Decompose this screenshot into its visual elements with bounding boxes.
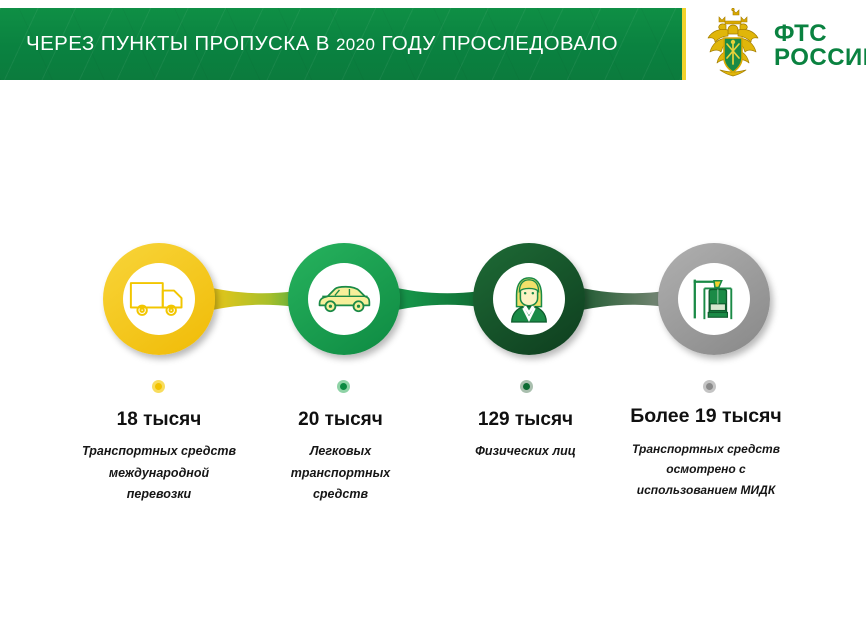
truck-icon: [128, 268, 190, 330]
node-midk-inspection[interactable]: [658, 243, 770, 355]
bullet-dot-1: [152, 380, 165, 393]
page-title-year: 2020: [336, 35, 375, 54]
node-individuals[interactable]: [473, 243, 585, 355]
stat-value-1: 18 тысяч: [75, 408, 243, 431]
header-banner: ЧЕРЕЗ ПУНКТЫ ПРОПУСКА В 2020 ГОДУ ПРОСЛЕ…: [0, 8, 686, 80]
fts-logo: ФТС РОССИИ: [700, 6, 866, 86]
stat-description-3: Физических лиц: [442, 441, 609, 463]
stat-value-3: 129 тысяч: [442, 408, 609, 431]
stat-description-1: Транспортных средств международной перев…: [75, 441, 243, 506]
bullet-dot-4: [703, 380, 716, 393]
node-trucks-international[interactable]: [103, 243, 215, 355]
infographic-chain: [0, 243, 866, 363]
page-title-tail: ГОДУ ПРОСЛЕДОВАЛО: [375, 32, 618, 55]
person-icon: [498, 268, 560, 330]
stat-value-2: 20 тысяч: [268, 408, 413, 431]
fts-logo-text: ФТС РОССИИ: [774, 22, 866, 71]
page-title: ЧЕРЕЗ ПУНКТЫ ПРОПУСКА В 2020 ГОДУ ПРОСЛЕ…: [0, 32, 618, 56]
car-icon: [313, 268, 375, 330]
stat-description-4: Транспортных средств осмотрено с использ…: [624, 439, 788, 501]
scanner-truck-icon: [683, 268, 745, 330]
stat-label-2: 20 тысяч Легковых транспортных средств: [268, 408, 413, 506]
bullet-dot-3: [520, 380, 533, 393]
bullet-dot-2: [337, 380, 350, 393]
fts-logo-line1: ФТС: [774, 20, 827, 47]
page-title-main: ЧЕРЕЗ ПУНКТЫ ПРОПУСКА В: [26, 32, 336, 55]
fts-logo-line2: РОССИИ: [774, 46, 866, 70]
russian-double-headed-eagle-emblem: [700, 8, 766, 84]
stat-label-4: Более 19 тысяч Транспортных средств осмо…: [624, 405, 788, 501]
stat-value-4: Более 19 тысяч: [624, 405, 788, 429]
stat-label-1: 18 тысяч Транспортных средств международ…: [75, 408, 243, 506]
node-passenger-cars[interactable]: [288, 243, 400, 355]
stat-label-3: 129 тысяч Физических лиц: [442, 408, 609, 463]
stat-description-2: Легковых транспортных средств: [268, 441, 413, 506]
